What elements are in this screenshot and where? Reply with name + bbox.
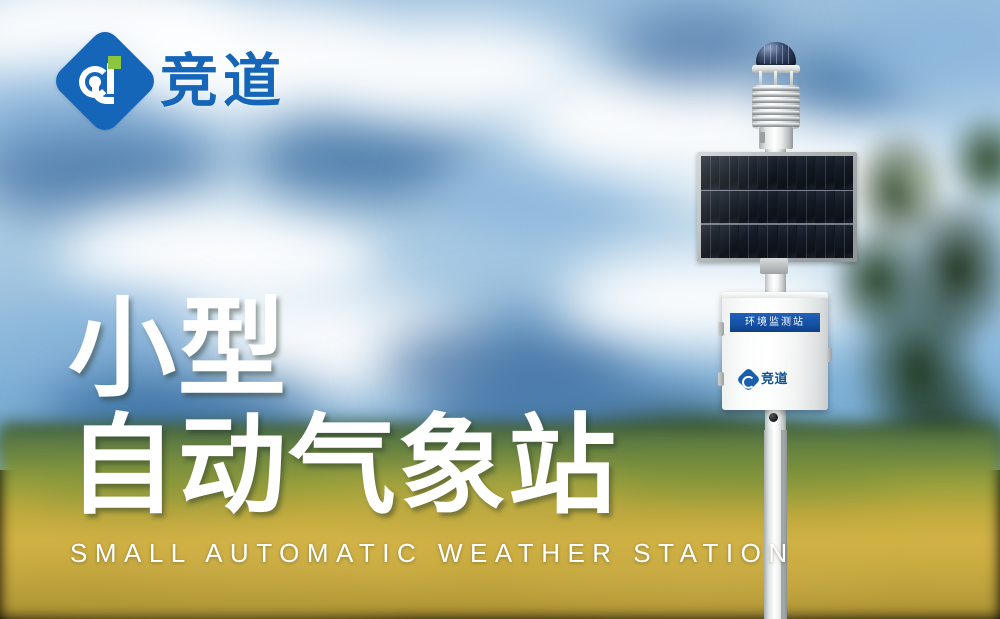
solar-panel-icon	[697, 152, 857, 262]
radiation-shield-icon	[752, 85, 800, 129]
logo-green-square-icon	[108, 56, 121, 69]
sensor-clip	[760, 132, 765, 143]
control-box-top	[722, 292, 828, 298]
jingdao-mark-icon	[736, 367, 760, 391]
mast-bolt-icon	[769, 413, 778, 422]
logo-glyph	[66, 42, 144, 120]
control-box-brand-label: 竞道	[761, 373, 788, 386]
control-box-banner: 环境监测站	[730, 313, 820, 332]
brand-name-label: 竞道	[160, 52, 286, 110]
headline-block: 小型 自动气象站	[68, 292, 688, 525]
jingdao-diamond-logo-icon	[50, 26, 160, 136]
headline-line-1: 小型	[68, 292, 688, 409]
logo-hook-shape	[92, 86, 114, 104]
control-box-brand: 竞道	[740, 368, 816, 390]
brand-logo[interactable]: 竞道	[66, 42, 286, 120]
control-box	[722, 292, 828, 410]
control-box-lug-right	[826, 348, 832, 362]
headline-line-2: 自动气象站	[68, 409, 688, 526]
banner-stage: 环境监测站 竞道 竞道 小型 自动气象站 SMALL AUTOMATIC WEA…	[0, 0, 1000, 619]
headline-subtitle: SMALL AUTOMATIC WEATHER STATION	[70, 540, 795, 566]
mast-shading	[781, 430, 788, 619]
solar-panel-cells	[701, 156, 853, 258]
control-box-lug-left-top	[718, 322, 724, 336]
control-box-lug-left-bottom	[718, 372, 724, 386]
solar-panel-mount	[760, 258, 788, 274]
control-box-banner-label: 环境监测站	[745, 318, 805, 328]
